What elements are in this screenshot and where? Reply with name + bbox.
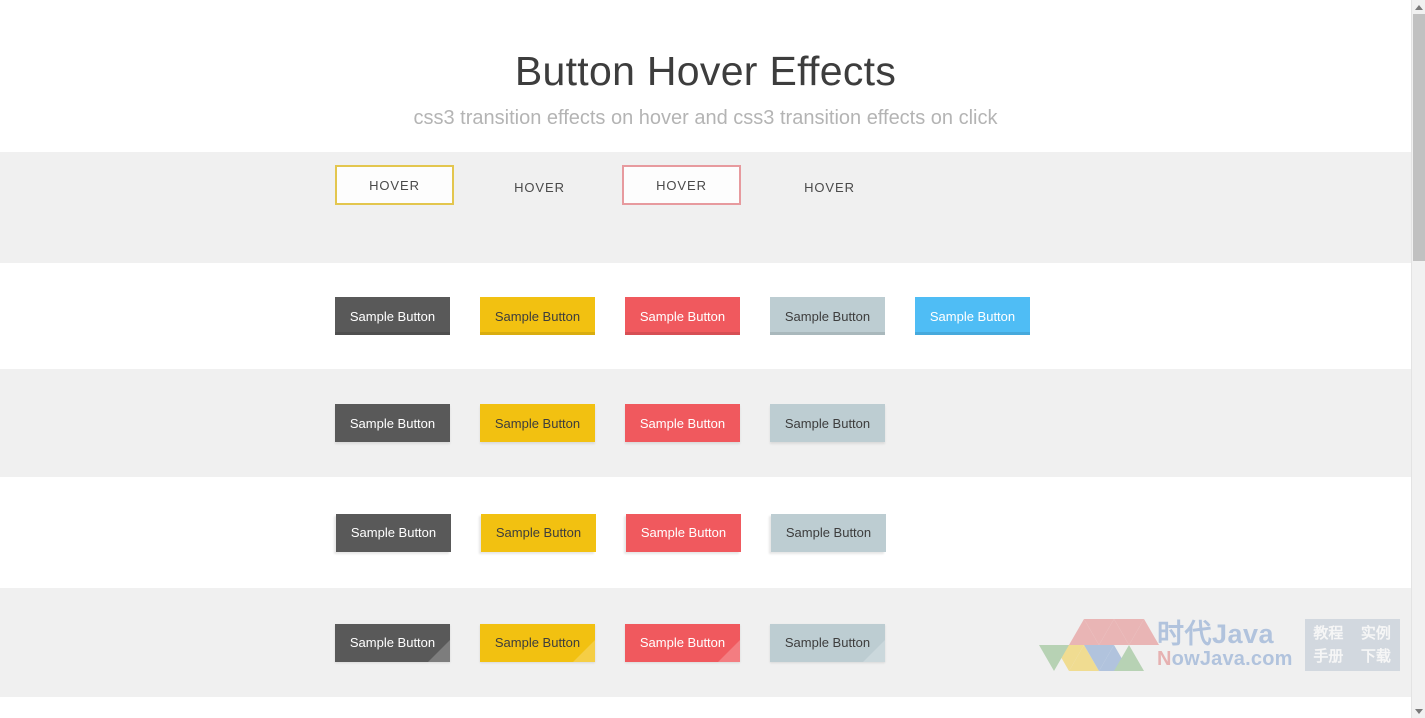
sample-button-r3-2-label: Sample Button — [495, 417, 580, 430]
corner-fold-slot-1: Sample Button — [335, 624, 480, 662]
scroll-down-arrow-icon[interactable] — [1412, 704, 1425, 718]
hover-button-2-label: HOVER — [514, 180, 565, 195]
page-root: Button Hover Effects css3 transition eff… — [0, 0, 1425, 718]
drop-shadow-slot-1: Sample Button — [335, 404, 480, 442]
hover-slot-2: HOVER — [480, 165, 622, 207]
sample-button-r3-4[interactable]: Sample Button — [770, 404, 885, 442]
sample-button-r3-1-label: Sample Button — [350, 417, 435, 430]
section-flat-shade: Sample Button Sample Button Sample Butto… — [0, 263, 1411, 369]
sample-button-r2-4-label: Sample Button — [785, 310, 870, 323]
sample-button-r4-3-label: Sample Button — [641, 526, 726, 539]
drop-shadow-slot-3: Sample Button — [625, 404, 770, 442]
sample-button-r3-2[interactable]: Sample Button — [480, 404, 595, 442]
sample-button-r5-2[interactable]: Sample Button — [480, 624, 595, 662]
sample-button-r2-5[interactable]: Sample Button — [915, 297, 1030, 335]
sample-button-r4-1-label: Sample Button — [351, 526, 436, 539]
hover-slot-3: HOVER — [622, 165, 770, 205]
section-offset-press: Sample Button Sample Button Sample Butto… — [0, 477, 1411, 588]
corner-fold-row: Sample Button Sample Button Sample Butto… — [335, 588, 915, 697]
sample-button-r4-1[interactable]: Sample Button — [336, 514, 451, 552]
sample-button-r2-2-label: Sample Button — [495, 310, 580, 323]
sample-button-r3-3-label: Sample Button — [640, 417, 725, 430]
offset-press-slot-1: Sample Button — [335, 514, 480, 552]
flat-shade-slot-2: Sample Button — [480, 297, 625, 335]
drop-shadow-slot-4: Sample Button — [770, 404, 915, 442]
section-footer-spacer — [0, 697, 1411, 718]
sample-button-r2-5-label: Sample Button — [930, 310, 1015, 323]
offset-press-slot-4: Sample Button — [770, 514, 915, 552]
hover-button-4[interactable]: HOVER — [770, 167, 889, 207]
flat-shade-slot-3: Sample Button — [625, 297, 770, 335]
hover-button-1[interactable]: HOVER — [335, 165, 454, 205]
flat-shade-slot-4: Sample Button — [770, 297, 915, 335]
corner-fold-slot-4: Sample Button — [770, 624, 915, 662]
scroll-up-arrow-icon[interactable] — [1412, 0, 1425, 14]
drop-shadow-row: Sample Button Sample Button Sample Butto… — [335, 369, 915, 477]
corner-fold-slot-3: Sample Button — [625, 624, 770, 662]
sample-button-r4-3[interactable]: Sample Button — [626, 514, 741, 552]
hover-button-2[interactable]: HOVER — [480, 167, 599, 207]
sample-button-r5-3-label: Sample Button — [640, 636, 725, 649]
sample-button-r4-2-label: Sample Button — [496, 526, 581, 539]
sample-button-r4-4-label: Sample Button — [786, 526, 871, 539]
sample-button-r5-4-label: Sample Button — [785, 636, 870, 649]
sample-button-r4-4[interactable]: Sample Button — [771, 514, 886, 552]
offset-press-row: Sample Button Sample Button Sample Butto… — [335, 477, 915, 588]
sample-button-r3-4-label: Sample Button — [785, 417, 870, 430]
sample-button-r5-2-label: Sample Button — [495, 636, 580, 649]
hover-slot-1: HOVER — [335, 165, 480, 205]
sample-button-r2-3-label: Sample Button — [640, 310, 725, 323]
flat-shade-slot-5: Sample Button — [915, 297, 1060, 335]
page-viewport: Button Hover Effects css3 transition eff… — [0, 0, 1411, 718]
sample-button-r4-2[interactable]: Sample Button — [481, 514, 596, 552]
sample-button-r2-3[interactable]: Sample Button — [625, 297, 740, 335]
sample-button-r2-1-label: Sample Button — [350, 310, 435, 323]
sample-button-r3-1[interactable]: Sample Button — [335, 404, 450, 442]
section-corner-fold: Sample Button Sample Button Sample Butto… — [0, 588, 1411, 697]
sample-button-r5-1[interactable]: Sample Button — [335, 624, 450, 662]
hover-button-3-label: HOVER — [656, 178, 707, 193]
page-title: Button Hover Effects — [0, 48, 1411, 95]
sample-button-r3-3[interactable]: Sample Button — [625, 404, 740, 442]
hover-button-1-label: HOVER — [369, 178, 420, 193]
hover-button-3[interactable]: HOVER — [622, 165, 741, 205]
corner-fold-slot-2: Sample Button — [480, 624, 625, 662]
hover-button-4-label: HOVER — [804, 180, 855, 195]
vertical-scrollbar[interactable] — [1411, 0, 1425, 718]
sample-button-r2-4[interactable]: Sample Button — [770, 297, 885, 335]
drop-shadow-slot-2: Sample Button — [480, 404, 625, 442]
hover-slot-4: HOVER — [770, 165, 915, 207]
sample-button-r5-3[interactable]: Sample Button — [625, 624, 740, 662]
sample-button-r2-1[interactable]: Sample Button — [335, 297, 450, 335]
section-hover-outline: HOVER HOVER HOVER HOVER — [0, 152, 1411, 263]
offset-press-slot-2: Sample Button — [480, 514, 625, 552]
scrollbar-thumb[interactable] — [1413, 14, 1425, 261]
section-drop-shadow: Sample Button Sample Button Sample Butto… — [0, 369, 1411, 477]
offset-press-slot-3: Sample Button — [625, 514, 770, 552]
sample-button-r2-2[interactable]: Sample Button — [480, 297, 595, 335]
flat-shade-slot-1: Sample Button — [335, 297, 480, 335]
page-header: Button Hover Effects css3 transition eff… — [0, 0, 1411, 152]
hover-outline-row: HOVER HOVER HOVER HOVER — [335, 152, 915, 263]
sample-button-r5-4[interactable]: Sample Button — [770, 624, 885, 662]
flat-shade-row: Sample Button Sample Button Sample Butto… — [335, 263, 1060, 369]
page-subtitle: css3 transition effects on hover and css… — [0, 106, 1411, 130]
sample-button-r5-1-label: Sample Button — [350, 636, 435, 649]
